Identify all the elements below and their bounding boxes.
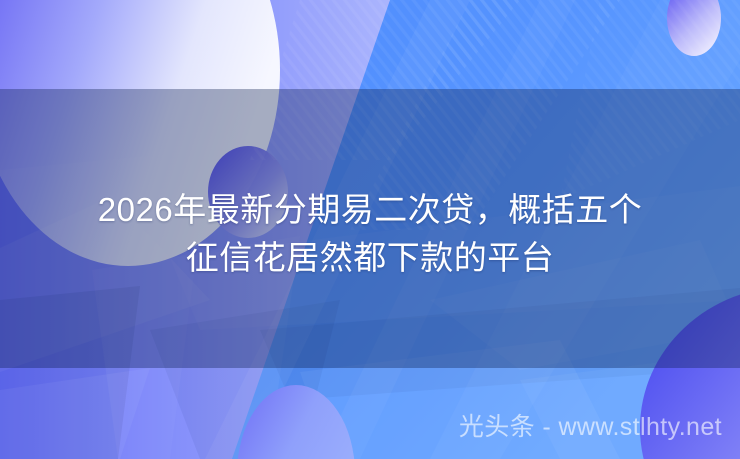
cover-image-canvas: 2026年最新分期易二次贷，概括五个 征信花居然都下款的平台 光头条 - www… (0, 0, 740, 459)
site-watermark: 光头条 - www.stlhty.net (0, 410, 722, 444)
cover-title: 2026年最新分期易二次贷，概括五个 征信花居然都下款的平台 (0, 186, 740, 282)
